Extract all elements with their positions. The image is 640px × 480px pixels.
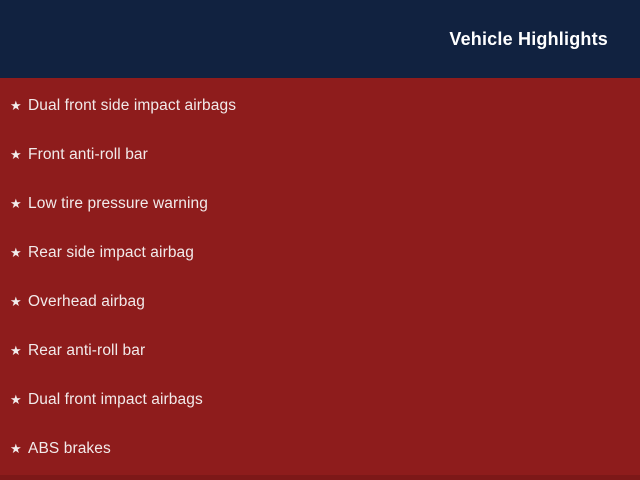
list-item: ★ Dual front impact airbags — [0, 390, 640, 439]
list-item: ★ Rear anti-roll bar — [0, 341, 640, 390]
list-item-label: Low tire pressure warning — [28, 194, 640, 214]
list-item: ★ Rear side impact airbag — [0, 243, 640, 292]
list-item: ★ Overhead airbag — [0, 292, 640, 341]
list-item-label: Rear anti-roll bar — [28, 341, 640, 361]
list-item: ★ Dual front side impact airbags — [0, 96, 640, 145]
footer-edge — [0, 475, 640, 480]
list-item-label: ABS brakes — [28, 439, 640, 459]
star-bullet-icon: ★ — [10, 292, 28, 312]
star-bullet-icon: ★ — [10, 390, 28, 410]
vehicle-highlights-slide: Vehicle Highlights ★ Dual front side imp… — [0, 0, 640, 480]
star-bullet-icon: ★ — [10, 341, 28, 361]
highlights-panel: ★ Dual front side impact airbags ★ Front… — [0, 78, 640, 480]
header-band: Vehicle Highlights — [0, 0, 640, 78]
list-item-label: Dual front side impact airbags — [28, 96, 640, 116]
list-item-label: Dual front impact airbags — [28, 390, 640, 410]
list-item-label: Overhead airbag — [28, 292, 640, 312]
star-bullet-icon: ★ — [10, 439, 28, 459]
list-item: ★ Front anti-roll bar — [0, 145, 640, 194]
list-item: ★ Low tire pressure warning — [0, 194, 640, 243]
page-title: Vehicle Highlights — [449, 29, 608, 49]
list-item-label: Front anti-roll bar — [28, 145, 640, 165]
list-item-label: Rear side impact airbag — [28, 243, 640, 263]
star-bullet-icon: ★ — [10, 194, 28, 214]
highlights-list: ★ Dual front side impact airbags ★ Front… — [0, 78, 640, 480]
star-bullet-icon: ★ — [10, 243, 28, 263]
star-bullet-icon: ★ — [10, 145, 28, 165]
list-item: ★ ABS brakes — [0, 439, 640, 480]
star-bullet-icon: ★ — [10, 96, 28, 116]
